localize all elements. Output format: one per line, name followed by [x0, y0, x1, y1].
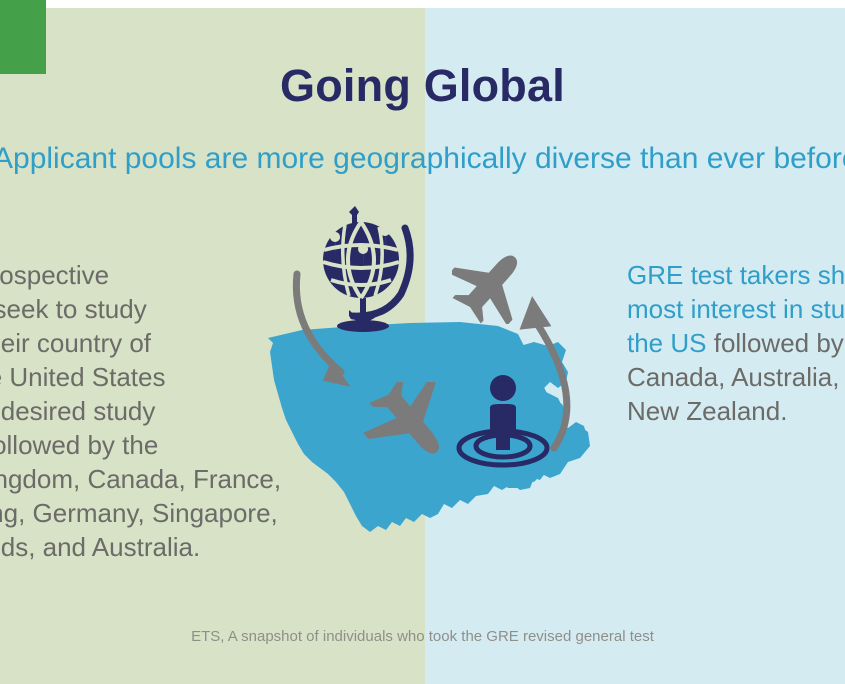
left-text-line-2: students seek to study	[0, 292, 368, 326]
left-text-line-7: United Kingdom, Canada, France,	[0, 462, 368, 496]
publisher-logo[interactable]	[0, 0, 46, 74]
source-citation: ETS, A snapshot of individuals who took …	[0, 628, 845, 645]
left-text-line-1: 52% of prospective	[0, 258, 368, 292]
left-statistic-text: 52% of prospective students seek to stud…	[0, 258, 368, 564]
left-text-line-6: location followed by the	[0, 428, 368, 462]
left-text-line-3: outside their country of	[0, 326, 368, 360]
left-text-line-1-rest: of prospective	[0, 260, 109, 290]
person-location-marker	[448, 372, 560, 477]
right-statistic-text: GRE test takers show most interest in st…	[627, 258, 845, 428]
right-text-line-3: the US followed by the UK,	[627, 326, 845, 360]
left-text-line-4: origin; the United States	[0, 360, 368, 394]
right-text-line-1: GRE test takers show	[627, 258, 845, 292]
logo-mark-icon	[0, 0, 46, 74]
airplane-outbound-icon	[452, 248, 534, 329]
top-white-strip	[0, 0, 845, 8]
left-text-line-2-rest: seek to study	[0, 294, 147, 324]
right-text-line-2: most interest in studying in	[627, 292, 845, 326]
left-text-line-8: Hong Kong, Germany, Singapore,	[0, 496, 368, 530]
infographic-canvas: Going Global Applicant pools are more ge…	[0, 0, 845, 684]
airplane-inbound-icon	[360, 382, 456, 471]
page-title: Going Global	[0, 60, 845, 112]
right-text-line-4: Canada, Australia, and	[627, 360, 845, 394]
page-subtitle: Applicant pools are more geographically …	[0, 142, 845, 176]
right-text-line-5: New Zealand.	[627, 394, 845, 428]
left-text-line-5: is the top desired study	[0, 394, 368, 428]
left-text-line-9: Netherlands, and Australia.	[0, 530, 368, 564]
right-text-highlight-us: the US	[627, 328, 707, 358]
right-text-line-3-rest: followed by the UK,	[707, 328, 845, 358]
